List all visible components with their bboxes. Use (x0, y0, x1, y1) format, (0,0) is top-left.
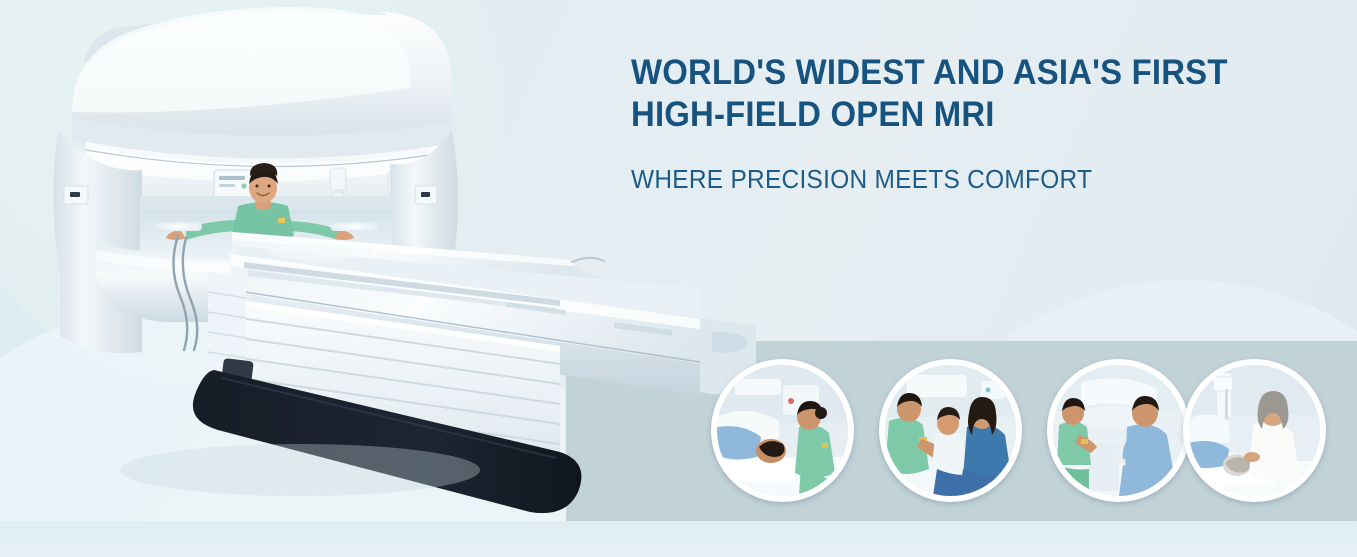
photo-circle-1[interactable] (711, 359, 854, 502)
headline-line-2: HIGH-FIELD OPEN MRI (631, 95, 995, 134)
photo-gallery (711, 359, 1341, 509)
banner-copy: WORLD'S WIDEST AND ASIA'S FIRST HIGH-FIE… (631, 52, 1331, 195)
photo-circle-3[interactable] (1047, 359, 1190, 502)
photo-4-image (1189, 365, 1320, 496)
photo-3-image (1053, 365, 1184, 496)
photo-circle-2[interactable] (879, 359, 1022, 502)
photo-2-image (885, 365, 1016, 496)
headline-line-1: WORLD'S WIDEST AND ASIA'S FIRST (631, 53, 1228, 92)
banner-subtitle: WHERE PRECISION MEETS COMFORT (631, 163, 1289, 195)
mri-upper-gantry (72, 7, 452, 160)
photo-1-image (717, 365, 848, 496)
photo-circle-4[interactable] (1183, 359, 1326, 502)
page-title: WORLD'S WIDEST AND ASIA'S FIRST HIGH-FIE… (631, 52, 1289, 136)
mri-promo-banner: WORLD'S WIDEST AND ASIA'S FIRST HIGH-FIE… (0, 0, 1357, 557)
